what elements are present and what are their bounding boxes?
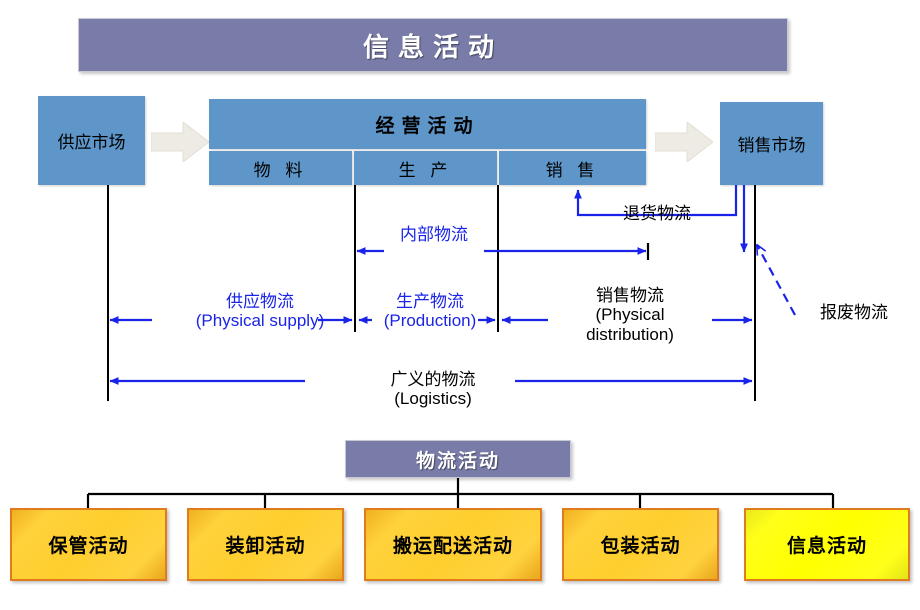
label-internal-logistics: 内部物流 [386, 225, 482, 244]
flow-scrap-logistics [757, 245, 795, 315]
label-sales-logistics: 销售物流 (Physical distribution) [565, 286, 695, 344]
activity-box-storage-label: 保管活动 [48, 531, 128, 558]
activity-box-loading-unloading: 装卸活动 [187, 508, 344, 581]
label-broad-logistics: 广义的物流 (Logistics) [340, 370, 526, 409]
activity-box-packaging-label: 包装活动 [600, 531, 680, 558]
label-broad-logistics-en: (Logistics) [340, 389, 526, 408]
activity-box-information: 信息活动 [744, 508, 910, 581]
label-production-logistics-cn: 生产物流 [362, 292, 498, 311]
label-scrap-logistics-cn: 报废物流 [820, 303, 888, 322]
label-sales-logistics-cn: 销售物流 [565, 286, 695, 305]
label-sales-logistics-en-2: distribution) [565, 325, 695, 344]
label-supply-logistics-en: (Physical supply) [160, 311, 360, 330]
banner-logistics-activity: 物流活动 [345, 440, 571, 478]
label-return-logistics: 退货物流 [605, 204, 709, 223]
activity-box-handling-delivery-label: 搬运配送活动 [393, 531, 513, 558]
activity-box-handling-delivery: 搬运配送活动 [364, 508, 542, 581]
activity-box-storage: 保管活动 [10, 508, 167, 581]
label-scrap-logistics: 报废物流 [800, 303, 908, 322]
flow-internal-logistics [357, 243, 648, 260]
label-sales-logistics-en-1: (Physical [565, 305, 695, 324]
diagram-canvas: 信息活动 供应市场 经营活动 物 料 生 产 销 售 销售市场 [0, 0, 920, 610]
banner-logistics-activity-label: 物流活动 [416, 446, 500, 473]
orgchart-connectors [88, 478, 833, 508]
activity-box-loading-unloading-label: 装卸活动 [225, 531, 305, 558]
activity-box-packaging: 包装活动 [562, 508, 719, 581]
label-supply-logistics: 供应物流 (Physical supply) [160, 292, 360, 331]
label-internal-logistics-cn: 内部物流 [400, 225, 468, 244]
activity-box-information-label: 信息活动 [787, 531, 867, 558]
label-broad-logistics-cn: 广义的物流 [340, 370, 526, 389]
label-production-logistics: 生产物流 (Production) [362, 292, 498, 331]
label-supply-logistics-cn: 供应物流 [160, 292, 360, 311]
label-production-logistics-en: (Production) [362, 311, 498, 330]
label-return-logistics-cn: 退货物流 [623, 204, 691, 223]
